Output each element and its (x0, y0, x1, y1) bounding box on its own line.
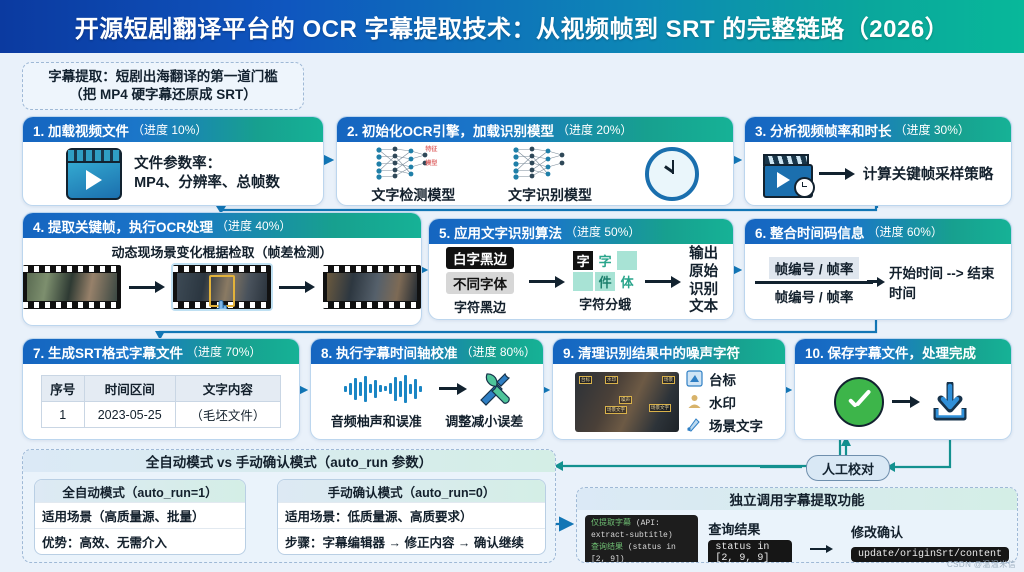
noise-label-1: 水印 (709, 392, 736, 412)
glyph-0: 字 (573, 251, 593, 270)
step-2-model2-label: 文字识别模型 (508, 185, 592, 205)
step-5-header: 5. 应用文字识别算法 （进度 50%） (429, 219, 733, 244)
auto-mode-row-1: 优势：高效、无需介入 (35, 528, 245, 554)
step-8-card[interactable]: 8. 执行字幕时间轴校准 （进度 80%） 音频柚声和误准 (310, 338, 544, 440)
step-5-body: 白字黑边 不同字体 字符黑边 字 字 件 体 字符分蛾 输出原始 识别文本 (429, 244, 733, 319)
step-4-caption: 动态现场景变化棍据检取（帧差检测） (111, 242, 332, 261)
list-item: 场景文字 (686, 415, 763, 435)
watermark-person-icon (686, 393, 703, 410)
glyph-4: 件 (595, 272, 615, 291)
list-item: 台标 (686, 369, 763, 389)
arrow-right-icon (129, 281, 165, 293)
step-2-title: 2. 初始化OCR引擎，加载识别模型 (347, 120, 554, 140)
step-9-title: 9. 清理识别结果中的噪声字符 (563, 342, 740, 362)
step-3-card[interactable]: 3. 分析视频帧率和时长 （进度 30%） 计算关键帧采样策略 (744, 116, 1012, 206)
arrow-right-icon (645, 276, 681, 288)
step-10-body (795, 364, 1011, 439)
step-1-header: 1. 加载视频文件 （进度 10%） (23, 117, 323, 142)
step-6-card[interactable]: 6. 整合时间码信息 （进度 60%） 帧编号 / 帧率 帧编号 / 帧率 开始… (744, 218, 1012, 320)
scene-text-icon (686, 416, 703, 433)
step-8-caption-right: 调整减小误差 (445, 411, 523, 430)
watermark: CSDN @温温米信 (947, 559, 1016, 570)
step-6-body: 帧编号 / 帧率 帧编号 / 帧率 开始时间 --> 结束时间 (745, 244, 1011, 319)
step-8-progress: （进度 80%） (461, 343, 536, 360)
api-col2-title: 查询结果 (708, 519, 792, 538)
frame-1[interactable] (23, 265, 121, 309)
step-5-caption-mid: 字符分蛾 (573, 294, 637, 313)
arrow-right-icon (819, 168, 855, 180)
step-1-text-line1: 文件参数率： (134, 155, 280, 173)
col-header-2: 文字内容 (175, 376, 280, 402)
step-6-result: 开始时间 --> 结束时间 (889, 262, 1003, 302)
arrow-right-icon (867, 277, 885, 287)
step-4-card[interactable]: 4. 提取关键帧，执行OCR处理 （进度 40%） 动态现场景变化棍据检取（帧差… (22, 212, 422, 326)
arrow-right-icon (279, 281, 315, 293)
frame-2-selected[interactable] (173, 265, 271, 309)
clapperboard-clock-icon (763, 154, 811, 194)
manual-proofread-badge[interactable]: 人工校对 (806, 455, 890, 481)
step-1-progress: （进度 10%） (132, 121, 207, 138)
api-col3-title: 修改确认 (851, 522, 1009, 541)
step-10-title: 10. 保存字幕文件，处理完成 (805, 342, 976, 362)
step-7-body: 序号 时间区间 文字内容 1 2023-05-25 （毛坯文件） (23, 364, 299, 439)
timecode-denominator: 帧编号 / 帧率 (775, 286, 854, 306)
page-title-bar: 开源短剧翻译平台的 OCR 字幕提取技术：从视频帧到 SRT 的完整链路（202… (0, 0, 1024, 53)
auto-mode-card[interactable]: 全自动模式（auto_run=1） 适用场景（高质量源、批量） 优势：高效、无需… (34, 479, 246, 555)
step-9-card[interactable]: 9. 清理识别结果中的噪声字符 台标 水印 场景 噪声 场景文字 场景文字 台标 (552, 338, 786, 440)
step-5-caption-left: 字符黑边 (439, 297, 521, 316)
step-3-title: 3. 分析视频帧率和时长 (755, 120, 892, 140)
step-1-text: 文件参数率： MP4、分辨率、总帧数 (134, 155, 280, 192)
step-2-header: 2. 初始化OCR引擎，加载识别模型 （进度 20%） (337, 117, 733, 142)
table-header-row: 序号 时间区间 文字内容 (42, 376, 281, 402)
step-8-body: 音频柚声和误准 调整减小误差 (311, 364, 543, 439)
manual-mode-card[interactable]: 手动确认模式（auto_run=0） 适用场景：低质量源、高质要求） 步骤：字幕… (277, 479, 546, 555)
step-1-title: 1. 加载视频文件 (33, 120, 129, 140)
video-thumbnail-with-boxes: 台标 水印 场景 噪声 场景文字 场景文字 (575, 372, 679, 432)
step-6-progress: （进度 60%） (868, 223, 943, 240)
api-col2-value: status in [2, 9, 9] (708, 540, 792, 564)
download-icon (928, 382, 972, 422)
step-7-card[interactable]: 7. 生成SRT格式字幕文件 （进度 70%） 序号 时间区间 文字内容 1 2… (22, 338, 300, 440)
audio-waveform-icon (335, 372, 431, 406)
auto-mode-row-0: 适用场景（高质量源、批量） (35, 502, 245, 528)
intro-note: 字幕提取：短剧出海翻译的第一道门槛 （把 MP4 硬字幕还原成 SRT） (22, 62, 304, 110)
arrow-right-icon (892, 396, 920, 408)
api-code-line1-zh: 仅提取字幕 (591, 519, 631, 528)
manual-mode-header: 手动确认模式（auto_run=0） (278, 480, 545, 502)
neural-net-badge-2: 模型 (425, 158, 437, 167)
glyph-5: 体 (617, 272, 637, 291)
step-9-body: 台标 水印 场景 噪声 场景文字 场景文字 台标 (553, 364, 785, 439)
arrow-right-icon (810, 545, 833, 553)
tv-logo-icon (686, 370, 703, 387)
api-code-block: 仅提取字幕 (API: extract-subtitle) 查询结果 (stat… (585, 515, 698, 563)
step-8-caption-left: 音频柚声和误准 (331, 411, 422, 430)
step-9-header: 9. 清理识别结果中的噪声字符 (553, 339, 785, 364)
step-2-card[interactable]: 2. 初始化OCR引擎，加载识别模型 （进度 20%） (336, 116, 734, 206)
step-5-title: 5. 应用文字识别算法 (439, 222, 562, 242)
clock-icon (645, 147, 699, 201)
step-2-body: 特征 模型 文字检测模型 (337, 142, 733, 205)
step-3-progress: （进度 30%） (895, 121, 970, 138)
manual-mode-row-0: 适用场景：低质量源、高质要求） (278, 502, 545, 528)
auto-mode-header: 全自动模式（auto_run=1） (35, 480, 245, 502)
arrow-right-icon (529, 276, 565, 288)
step-4-header: 4. 提取关键帧，执行OCR处理 （进度 40%） (23, 213, 421, 238)
step-5-output-line2: 识别文本 (689, 282, 723, 317)
timecode-fraction: 帧编号 / 帧率 帧编号 / 帧率 (755, 257, 873, 306)
glyph-3 (573, 272, 593, 291)
frame-3[interactable] (323, 265, 421, 309)
step-3-body: 计算关键帧采样策略 (745, 142, 1011, 205)
intro-note-line2: （把 MP4 硬字幕还原成 SRT） (69, 86, 257, 104)
manual-proofread-label: 人工校对 (822, 459, 874, 478)
cell-0-2: （毛坯文件） (175, 402, 280, 428)
neural-net-badge-1: 特征 (425, 144, 437, 153)
neural-net-recognize-icon (508, 143, 570, 183)
step-3-header: 3. 分析视频帧率和时长 （进度 30%） (745, 117, 1011, 142)
step-10-card[interactable]: 10. 保存字幕文件，处理完成 (794, 338, 1012, 440)
step-4-title: 4. 提取关键帧，执行OCR处理 (33, 216, 213, 236)
list-item: 水印 (686, 392, 763, 412)
step-1-text-line2: MP4、分辨率、总帧数 (134, 174, 280, 192)
srt-table: 序号 时间区间 文字内容 1 2023-05-25 （毛坯文件） (41, 375, 281, 428)
noise-label-2: 场景文字 (709, 415, 763, 435)
step-6-header: 6. 整合时间码信息 （进度 60%） (745, 219, 1011, 244)
arrow-right-icon (439, 383, 467, 395)
char-segmentation-grid: 字 字 件 体 (573, 251, 637, 291)
step-5-card[interactable]: 5. 应用文字识别算法 （进度 50%） 白字黑边 不同字体 字符黑边 字 字 … (428, 218, 734, 320)
timecode-numerator: 帧编号 / 帧率 (769, 257, 860, 279)
glyph-2 (617, 251, 637, 270)
api-code-line2-zh: 查询结果 (591, 543, 623, 552)
cell-0-1: 2023-05-25 (84, 402, 175, 428)
wrench-screwdriver-icon (475, 370, 519, 408)
noise-label-0: 台标 (709, 369, 736, 389)
step-5-chip-grey: 不同字体 (446, 272, 514, 294)
step-6-title: 6. 整合时间码信息 (755, 222, 865, 242)
step-8-header: 8. 执行字幕时间轴校准 （进度 80%） (311, 339, 543, 364)
step-5-chip-dark: 白字黑边 (446, 247, 514, 269)
step-8-title: 8. 执行字幕时间轴校准 (321, 342, 458, 362)
step-7-header: 7. 生成SRT格式字幕文件 （进度 70%） (23, 339, 299, 364)
step-2-progress: （进度 20%） (557, 121, 632, 138)
video-file-icon (66, 148, 122, 200)
step-5-progress: （进度 50%） (565, 223, 640, 240)
autorun-panel-title: 全自动模式 vs 手动确认模式（auto_run 参数） (23, 450, 555, 472)
infographic-root: 开源短剧翻译平台的 OCR 字幕提取技术：从视频帧到 SRT 的完整链路（202… (0, 0, 1024, 572)
step-4-progress: （进度 40%） (216, 217, 291, 234)
api-panel-title: 独立调用字幕提取功能 (577, 488, 1017, 510)
hand-cursor-icon (213, 299, 231, 309)
col-header-1: 时间区间 (84, 376, 175, 402)
check-circle-icon (834, 377, 884, 427)
manual-mode-row-1: 步骤：字幕编辑器 → 修正内容 → 确认继续 (278, 528, 545, 554)
table-row: 1 2023-05-25 （毛坯文件） (42, 402, 281, 428)
col-header-0: 序号 (42, 376, 85, 402)
page-title: 开源短剧翻译平台的 OCR 字幕提取技术：从视频帧到 SRT 的完整链路（202… (75, 9, 949, 44)
cell-0-0: 1 (42, 402, 85, 428)
step-7-title: 7. 生成SRT格式字幕文件 (33, 342, 183, 362)
step-3-text: 计算关键帧采样策略 (863, 163, 994, 184)
step-1-card[interactable]: 1. 加载视频文件 （进度 10%） 文件参数率： MP4、分辨率、总帧数 (22, 116, 324, 206)
glyph-1: 字 (595, 251, 615, 270)
api-panel: 独立调用字幕提取功能 仅提取字幕 (API: extract-subtitle)… (576, 487, 1018, 563)
frame-sequence (31, 265, 413, 309)
step-5-output-line1: 输出原始 (689, 246, 723, 281)
step-1-body: 文件参数率： MP4、分辨率、总帧数 (23, 142, 323, 205)
neural-net-detect-icon: 特征 模型 (371, 143, 433, 183)
noise-type-list: 台标 水印 场景文字 (686, 369, 763, 435)
step-5-output: 输出原始 识别文本 (689, 246, 723, 317)
step-10-header: 10. 保存字幕文件，处理完成 (795, 339, 1011, 364)
step-7-progress: （进度 70%） (186, 343, 261, 360)
step-4-body: 动态现场景变化棍据检取（帧差检测） (23, 238, 421, 325)
intro-note-line1: 字幕提取：短剧出海翻译的第一道门槛 (48, 68, 278, 86)
step-2-model1-label: 文字检测模型 (371, 185, 455, 205)
